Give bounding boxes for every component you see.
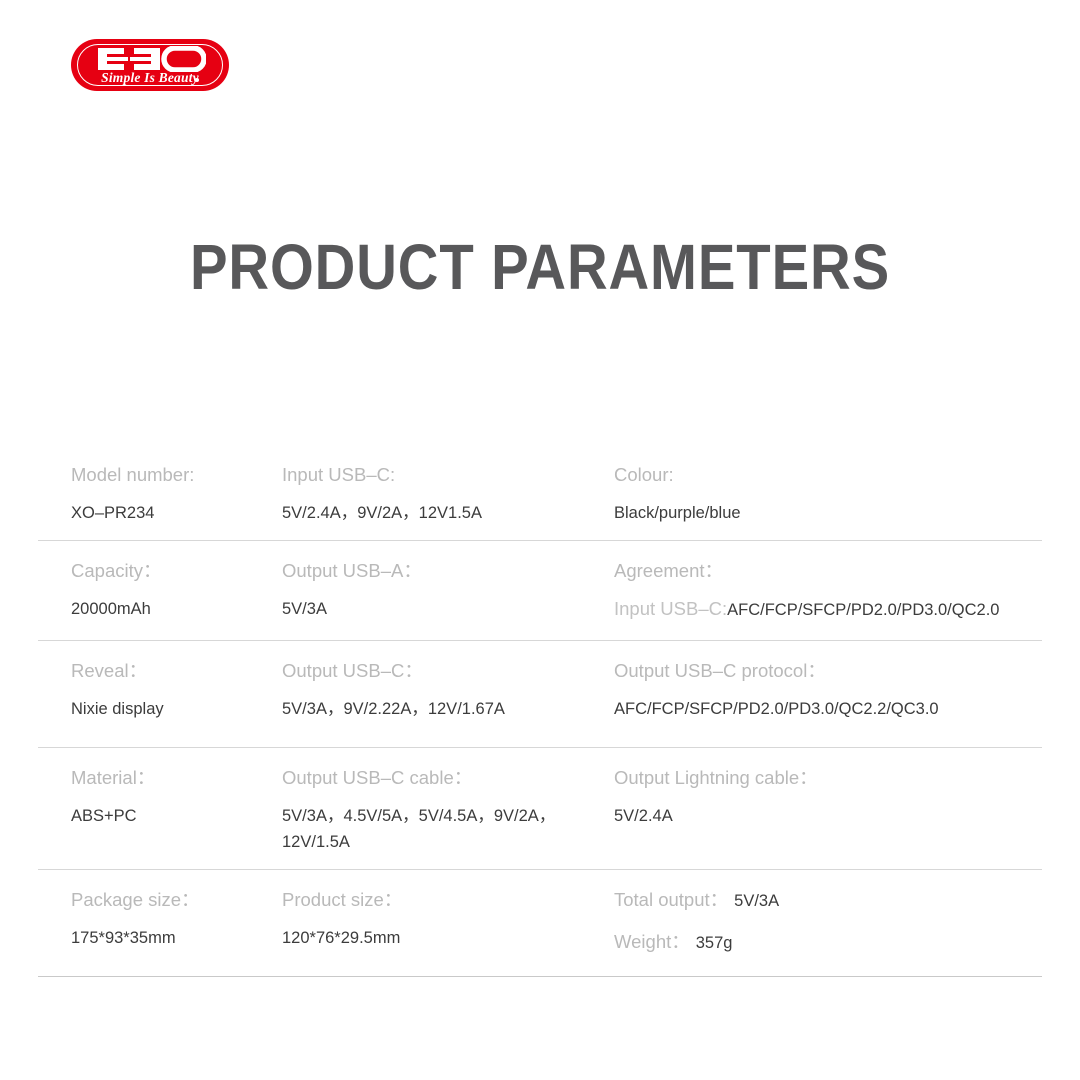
spec-cell-output-lightning-cable: Output Lightning cable： 5V/2.4A bbox=[614, 748, 1042, 869]
spec-value: Input USB–C:AFC/FCP/SFCP/PD2.0/PD3.0/QC2… bbox=[614, 596, 1042, 624]
spec-value: 175*93*35mm bbox=[71, 925, 282, 951]
page-title: PRODUCT PARAMETERS bbox=[65, 231, 1015, 303]
spec-pair-weight: Weight：357g bbox=[614, 929, 1042, 957]
spec-label: Input USB–C: bbox=[282, 462, 614, 488]
spec-cell-package-size: Package size： 175*93*35mm bbox=[38, 870, 282, 976]
spec-cell-model-number: Model number: XO–PR234 bbox=[38, 445, 282, 540]
product-parameters-page: { "brand": { "logo_mark": "XO", "tagline… bbox=[0, 0, 1080, 1080]
spec-value: XO–PR234 bbox=[71, 500, 282, 526]
spec-cell-input-usb-c: Input USB–C: 5V/2.4A，9V/2A，12V1.5A bbox=[282, 445, 614, 540]
spec-cell-capacity: Capacity： 20000mAh bbox=[38, 541, 282, 640]
spec-cell-reveal: Reveal： Nixie display bbox=[38, 641, 282, 747]
table-row: Model number: XO–PR234 Input USB–C: 5V/2… bbox=[38, 445, 1042, 541]
table-row: Reveal： Nixie display Output USB–C： 5V/3… bbox=[38, 641, 1042, 748]
spec-cell-material: Material： ABS+PC bbox=[38, 748, 282, 869]
logo-tagline: Simple Is Beauty bbox=[71, 70, 229, 86]
spec-cell-output-usb-c: Output USB–C： 5V/3A，9V/2.22A，12V/1.67A bbox=[282, 641, 614, 747]
table-row: Capacity： 20000mAh Output USB–A： 5V/3A A… bbox=[38, 541, 1042, 641]
spec-label: Model number: bbox=[71, 462, 282, 488]
spec-label: Output Lightning cable： bbox=[614, 765, 1042, 791]
spec-cell-output-usb-c-protocol: Output USB–C protocol： AFC/FCP/SFCP/PD2.… bbox=[614, 641, 1042, 747]
spec-label: Product size： bbox=[282, 887, 614, 913]
spec-value: 5V/3A bbox=[282, 596, 614, 622]
spec-value: 357g bbox=[696, 934, 733, 952]
spec-label: Total output： bbox=[614, 889, 728, 910]
agreement-value: AFC/FCP/SFCP/PD2.0/PD3.0/QC2.0 bbox=[727, 601, 999, 619]
spec-value: 20000mAh bbox=[71, 596, 282, 622]
spec-label: Reveal： bbox=[71, 658, 282, 684]
spec-label: Output USB–C cable： bbox=[282, 765, 614, 791]
logo-badge: Simple Is Beauty bbox=[71, 39, 229, 91]
spec-label: Output USB–A： bbox=[282, 558, 614, 584]
spec-value: 120*76*29.5mm bbox=[282, 925, 614, 951]
spec-value: Nixie display bbox=[71, 696, 282, 722]
spec-value: 5V/2.4A bbox=[614, 803, 1042, 829]
spec-label: Package size： bbox=[71, 887, 282, 913]
spec-pair-total-output: Total output：5V/3A bbox=[614, 887, 1042, 915]
spec-label: Capacity： bbox=[71, 558, 282, 584]
spec-value: ABS+PC bbox=[71, 803, 282, 829]
spec-label: Output USB–C protocol： bbox=[614, 658, 1042, 684]
spec-cell-agreement: Agreement： Input USB–C:AFC/FCP/SFCP/PD2.… bbox=[614, 541, 1042, 640]
table-row: Material： ABS+PC Output USB–C cable： 5V/… bbox=[38, 748, 1042, 870]
spec-label: Colour: bbox=[614, 462, 1042, 488]
spec-label: Agreement： bbox=[614, 558, 1042, 584]
spec-cell-output-usb-a: Output USB–A： 5V/3A bbox=[282, 541, 614, 640]
spec-cell-colour: Colour: Black/purple/blue bbox=[614, 445, 1042, 540]
table-row: Package size： 175*93*35mm Product size： … bbox=[38, 870, 1042, 977]
spec-label: Material： bbox=[71, 765, 282, 791]
brand-logo: Simple Is Beauty bbox=[71, 39, 229, 91]
spec-value: AFC/FCP/SFCP/PD2.0/PD3.0/QC2.2/QC3.0 bbox=[614, 696, 1042, 722]
xo-monogram-icon bbox=[71, 46, 229, 72]
agreement-prefix: Input USB–C: bbox=[614, 598, 727, 619]
spec-value: 5V/2.4A，9V/2A，12V1.5A bbox=[282, 500, 614, 526]
spec-value: 5V/3A，9V/2.22A，12V/1.67A bbox=[282, 696, 614, 722]
spec-cell-output-usb-c-cable: Output USB–C cable： 5V/3A，4.5V/5A，5V/4.5… bbox=[282, 748, 614, 869]
spec-value: 5V/3A bbox=[734, 892, 779, 910]
spec-label: Weight： bbox=[614, 931, 690, 952]
spec-label: Output USB–C： bbox=[282, 658, 614, 684]
spec-table: Model number: XO–PR234 Input USB–C: 5V/2… bbox=[38, 445, 1042, 977]
spec-value: 5V/3A，4.5V/5A，5V/4.5A，9V/2A，12V/1.5A bbox=[282, 803, 582, 855]
spec-value: Black/purple/blue bbox=[614, 500, 1042, 526]
spec-cell-product-size: Product size： 120*76*29.5mm bbox=[282, 870, 614, 976]
spec-cell-total-output-weight: Total output：5V/3A Weight：357g bbox=[614, 870, 1042, 976]
